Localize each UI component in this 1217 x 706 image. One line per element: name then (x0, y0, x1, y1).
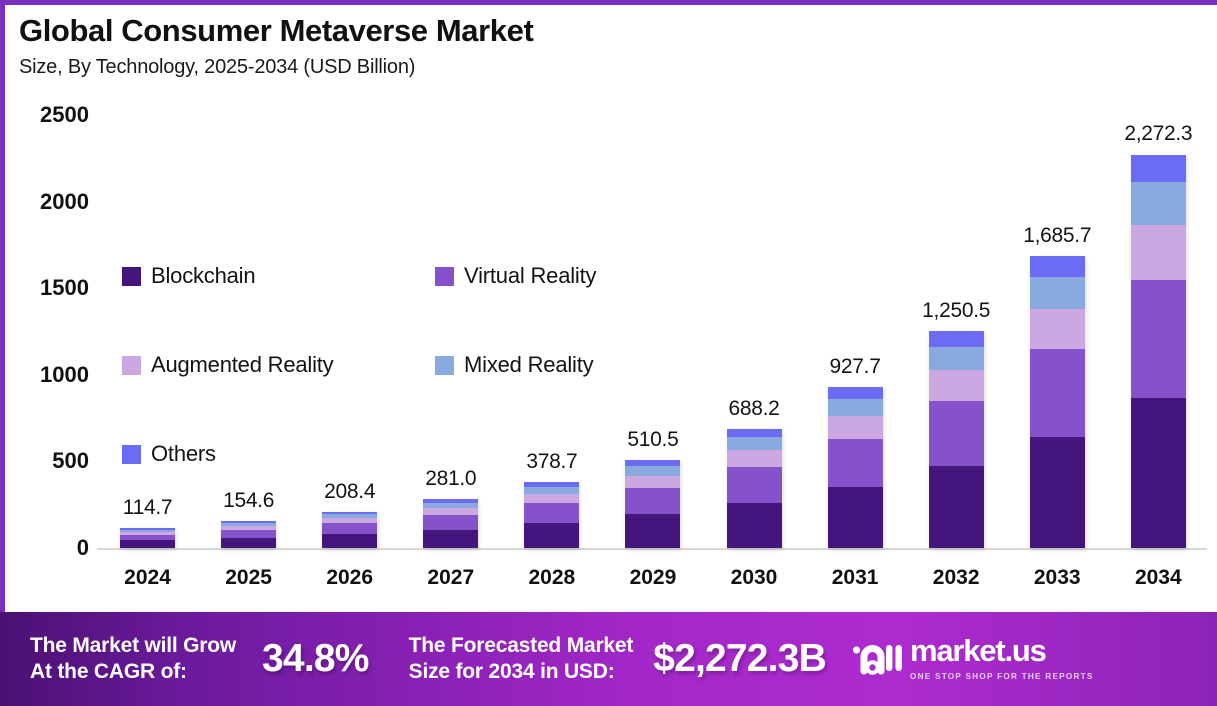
bar-stack[interactable] (322, 512, 377, 548)
legend-label: Virtual Reality (464, 263, 596, 289)
bar-column[interactable]: 1,685.7 (1012, 115, 1102, 548)
forecast-caption: The Forecasted Market Size for 2034 in U… (409, 633, 634, 684)
cagr-value: 34.8% (262, 637, 369, 681)
bar-segment-virtual-reality[interactable] (1131, 280, 1186, 398)
legend-item-virtual-reality[interactable]: Virtual Reality (435, 263, 596, 289)
bar-segment-blockchain[interactable] (727, 503, 782, 548)
x-axis-tick: 2027 (406, 566, 496, 590)
x-axis-tick: 2025 (204, 566, 294, 590)
bar-value-label: 1,685.7 (1023, 224, 1091, 248)
bar-segment-blockchain[interactable] (423, 530, 478, 548)
legend-label: Others (151, 441, 216, 467)
bar-value-label: 281.0 (425, 467, 476, 491)
bar-column[interactable]: 1,250.5 (911, 115, 1001, 548)
bar-segment-blockchain[interactable] (1030, 437, 1085, 548)
page-subtitle: Size, By Technology, 2025-2034 (USD Bill… (19, 56, 533, 79)
bar-stack[interactable] (524, 482, 579, 548)
bar-value-label: 927.7 (830, 355, 881, 379)
cagr-caption-line2: At the CAGR of: (30, 659, 236, 685)
bar-value-label: 2,272.3 (1124, 122, 1192, 146)
legend-label: Mixed Reality (464, 352, 593, 378)
legend-item-blockchain[interactable]: Blockchain (122, 263, 255, 289)
bar-segment-augmented-reality[interactable] (727, 450, 782, 467)
forecast-value: $2,272.3B (653, 637, 826, 681)
bar-segment-augmented-reality[interactable] (423, 508, 478, 515)
forecast-block: The Forecasted Market Size for 2034 in U… (409, 633, 826, 684)
logo-name: market.us (910, 633, 1046, 668)
legend-item-mixed-reality[interactable]: Mixed Reality (435, 352, 593, 378)
bar-value-label: 1,250.5 (922, 299, 990, 323)
bar-segment-augmented-reality[interactable] (1030, 309, 1085, 350)
x-axis-tick: 2031 (810, 566, 900, 590)
x-axis-tick: 2029 (608, 566, 698, 590)
bar-segment-blockchain[interactable] (120, 540, 175, 548)
bar-stack[interactable] (423, 499, 478, 548)
bar-stack[interactable] (221, 521, 276, 548)
chart-plot-area: 05001000150020002500 114.7154.6208.4281.… (5, 115, 1217, 605)
legend-item-others[interactable]: Others (122, 441, 216, 467)
bar-segment-others[interactable] (1030, 256, 1085, 276)
bar-stack[interactable] (828, 387, 883, 548)
bar-value-label: 154.6 (223, 489, 274, 513)
bar-segment-mixed-reality[interactable] (524, 487, 579, 494)
forecast-caption-line1: The Forecasted Market (409, 633, 634, 659)
bar-segment-mixed-reality[interactable] (828, 399, 883, 417)
brand-logo[interactable]: market.us ONE STOP SHOP FOR THE REPORTS (852, 635, 1217, 684)
chart-header: Global Consumer Metaverse Market Size, B… (19, 15, 533, 79)
legend-swatch-icon (122, 445, 141, 464)
page-title: Global Consumer Metaverse Market (19, 15, 533, 48)
bar-segment-mixed-reality[interactable] (727, 437, 782, 450)
chart-page: Global Consumer Metaverse Market Size, B… (0, 0, 1217, 706)
bar-column[interactable]: 927.7 (810, 115, 900, 548)
x-axis-tick: 2030 (709, 566, 799, 590)
bar-segment-augmented-reality[interactable] (625, 476, 680, 488)
bar-segment-blockchain[interactable] (828, 487, 883, 548)
bar-segment-virtual-reality[interactable] (1030, 349, 1085, 437)
y-axis-tick: 2500 (40, 102, 89, 128)
bar-stack[interactable] (120, 528, 175, 548)
bar-value-label: 114.7 (123, 496, 173, 520)
bar-segment-blockchain[interactable] (524, 523, 579, 548)
bar-segment-virtual-reality[interactable] (423, 515, 478, 530)
bar-segment-augmented-reality[interactable] (929, 370, 984, 400)
footer-banner: The Market will Grow At the CAGR of: 34.… (0, 612, 1217, 706)
y-axis-tick: 0 (77, 535, 89, 561)
bar-segment-others[interactable] (727, 429, 782, 437)
bar-value-label: 208.4 (324, 480, 375, 504)
bar-segment-blockchain[interactable] (1131, 398, 1186, 548)
bar-segment-augmented-reality[interactable] (1131, 225, 1186, 280)
bar-segment-mixed-reality[interactable] (1030, 277, 1085, 309)
x-axis-tick: 2034 (1113, 566, 1203, 590)
legend-item-augmented-reality[interactable]: Augmented Reality (122, 352, 333, 378)
bar-segment-mixed-reality[interactable] (1131, 182, 1186, 225)
bar-segment-blockchain[interactable] (929, 466, 984, 548)
bar-segment-augmented-reality[interactable] (828, 416, 883, 438)
x-axis-tick: 2024 (103, 566, 193, 590)
bar-segment-augmented-reality[interactable] (524, 494, 579, 503)
x-axis-tick: 2026 (305, 566, 395, 590)
bar-segment-virtual-reality[interactable] (524, 503, 579, 523)
bar-segment-virtual-reality[interactable] (828, 439, 883, 487)
legend-label: Augmented Reality (151, 352, 333, 378)
legend-swatch-icon (435, 267, 454, 286)
forecast-caption-line2: Size for 2034 in USD: (409, 659, 634, 685)
bar-segment-others[interactable] (828, 387, 883, 398)
cagr-caption-line1: The Market will Grow (30, 633, 236, 659)
y-axis-tick: 1500 (40, 275, 89, 301)
bar-stack[interactable] (727, 429, 782, 548)
bar-stack[interactable] (1030, 256, 1085, 548)
bar-segment-others[interactable] (929, 331, 984, 346)
bar-segment-others[interactable] (1131, 155, 1186, 183)
x-axis-tick: 2028 (507, 566, 597, 590)
bar-stack[interactable] (625, 460, 680, 548)
logo-text: market.us ONE STOP SHOP FOR THE REPORTS (910, 635, 1217, 684)
bar-value-label: 688.2 (728, 397, 779, 421)
cagr-caption: The Market will Grow At the CAGR of: (30, 633, 236, 684)
bar-segment-virtual-reality[interactable] (929, 401, 984, 466)
bar-segment-virtual-reality[interactable] (727, 467, 782, 503)
x-axis-tick: 2033 (1012, 566, 1102, 590)
market-us-mark-icon (852, 637, 902, 682)
x-axis-tick: 2032 (911, 566, 1001, 590)
y-axis: 05001000150020002500 (5, 115, 97, 555)
y-axis-tick: 2000 (40, 189, 89, 215)
bar-segment-blockchain[interactable] (322, 534, 377, 548)
y-axis-tick: 1000 (40, 362, 89, 388)
x-axis: 2024202520262027202820292030203120322033… (97, 558, 1209, 598)
bar-segment-blockchain[interactable] (221, 538, 276, 548)
bar-stack[interactable] (929, 331, 984, 548)
cagr-block: The Market will Grow At the CAGR of: 34.… (30, 633, 369, 684)
chart-legend: BlockchainVirtual RealityAugmented Reali… (115, 255, 675, 470)
bar-segment-mixed-reality[interactable] (929, 347, 984, 371)
y-axis-tick: 500 (52, 448, 89, 474)
bar-segment-virtual-reality[interactable] (625, 488, 680, 515)
legend-swatch-icon (122, 356, 141, 375)
bar-segment-virtual-reality[interactable] (322, 523, 377, 534)
legend-label: Blockchain (151, 263, 255, 289)
bar-segment-virtual-reality[interactable] (221, 530, 276, 538)
x-axis-line (97, 548, 1207, 550)
logo-tagline: ONE STOP SHOP FOR THE REPORTS (910, 672, 1094, 681)
bar-column[interactable]: 688.2 (709, 115, 799, 548)
bar-stack[interactable] (1131, 154, 1186, 548)
bar-column[interactable]: 2,272.3 (1113, 115, 1203, 548)
legend-swatch-icon (435, 356, 454, 375)
legend-swatch-icon (122, 267, 141, 286)
bar-segment-blockchain[interactable] (625, 514, 680, 548)
